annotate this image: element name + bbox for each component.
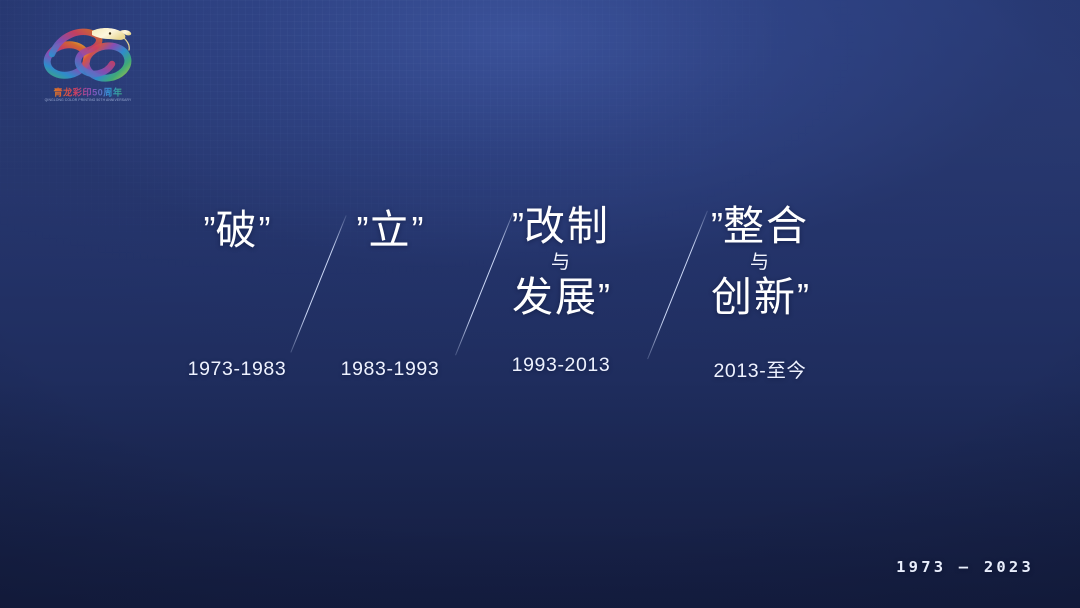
presentation-slide: 青龙彩印50周年 QINGLONG COLOR PRINTING 50TH AN… [0, 0, 1080, 608]
era-2-years: 1983-1993 [310, 358, 470, 381]
era-1-open-quote: ” [204, 209, 216, 250]
timeline-era-3: ”改制 与 发展” 1993-2013 [481, 204, 641, 321]
era-1-years: 1973-1983 [157, 358, 317, 381]
era-3-title: ”改制 [481, 204, 641, 250]
timeline-era-2: ”立” 1983-1993 [310, 208, 470, 254]
era-2-title: ”立” [310, 208, 470, 254]
era-4-title: ”整合 [680, 204, 840, 250]
era-3-close-quote: ” [598, 276, 610, 317]
timeline-era-4: ”整合 与 创新” 2013-至今 [680, 204, 840, 321]
era-2-open-quote: ” [357, 209, 369, 250]
timeline-eras: ”破” 1973-1983 ”立” 1983-1993 ”改制 与 发展” 19… [0, 0, 1080, 608]
era-1-close-quote: ” [259, 209, 271, 250]
era-4-years: 2013-至今 [680, 354, 840, 383]
era-4-close-quote: ” [797, 276, 809, 317]
era-3-keyword-2: 发展 [512, 274, 598, 320]
era-4-open-quote: ” [711, 205, 723, 246]
timeline-era-1: ”破” 1973-1983 [157, 208, 317, 254]
era-3-keyword: 改制 [524, 203, 610, 249]
era-2-close-quote: ” [412, 209, 424, 250]
era-3-conjunction: 与 [481, 251, 641, 275]
footer-year-range: 1973 — 2023 [896, 558, 1034, 576]
era-2-keyword: 立 [369, 207, 412, 253]
era-4-title-second-line: 创新” [680, 275, 840, 321]
era-3-title-second-line: 发展” [481, 275, 641, 321]
era-4-conjunction: 与 [680, 251, 840, 275]
era-3-open-quote: ” [512, 205, 524, 246]
era-4-keyword-2: 创新 [711, 274, 797, 320]
era-1-title: ”破” [157, 208, 317, 254]
era-4-keyword: 整合 [723, 203, 809, 249]
era-1-keyword: 破 [216, 207, 259, 253]
era-3-years: 1993-2013 [481, 354, 641, 377]
